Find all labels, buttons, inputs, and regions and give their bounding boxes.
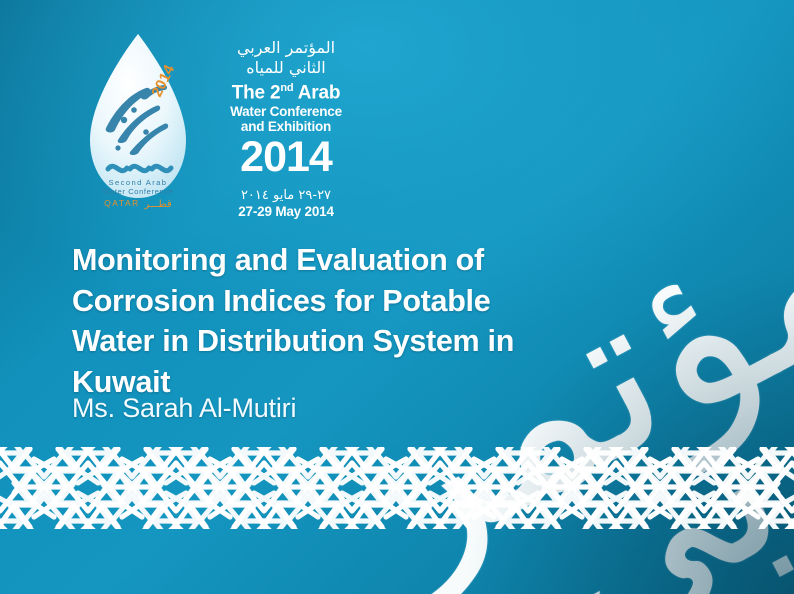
event-arabic-line-2: الثاني للمياه <box>212 58 360 78</box>
conference-logo: 2014 Second Arab Water Conference QATAR … <box>72 32 204 227</box>
event-english-line-2: Water Conference <box>212 104 360 119</box>
event-date-arabic: ٢٧-٢٩ مايو ٢٠١٤ <box>212 188 360 204</box>
event-arabic-line-1: المؤتمر العربي <box>212 38 360 58</box>
event-ordinal-suffix: nd <box>280 82 293 94</box>
event-english-line-3: and Exhibition <box>212 119 360 134</box>
event-english-line-1: The 2nd Arab <box>212 82 360 104</box>
presentation-title: Monitoring and Evaluation of Corrosion I… <box>72 240 572 402</box>
event-date-english: 27-29 May 2014 <box>212 204 360 220</box>
presenter-name: Ms. Sarah Al-Mutiri <box>72 392 552 426</box>
droplet-shape <box>90 34 186 198</box>
presentation-slide: المؤتمر العربي <box>0 0 794 594</box>
event-english-arab: Arab <box>293 82 340 103</box>
logo-line1: Second Arab <box>109 178 168 187</box>
event-identity-block: المؤتمر العربي الثاني للمياه The 2nd Ara… <box>212 38 360 220</box>
event-year: 2014 <box>212 136 360 179</box>
logo-country-en: QATAR <box>104 198 140 208</box>
logo-country-ar: قطـــر <box>143 199 172 210</box>
wave-mark <box>108 166 171 170</box>
event-english-the2: The 2 <box>232 82 281 103</box>
logo-line2: Water Conference <box>103 187 174 196</box>
islamic-pattern-band <box>0 447 794 529</box>
